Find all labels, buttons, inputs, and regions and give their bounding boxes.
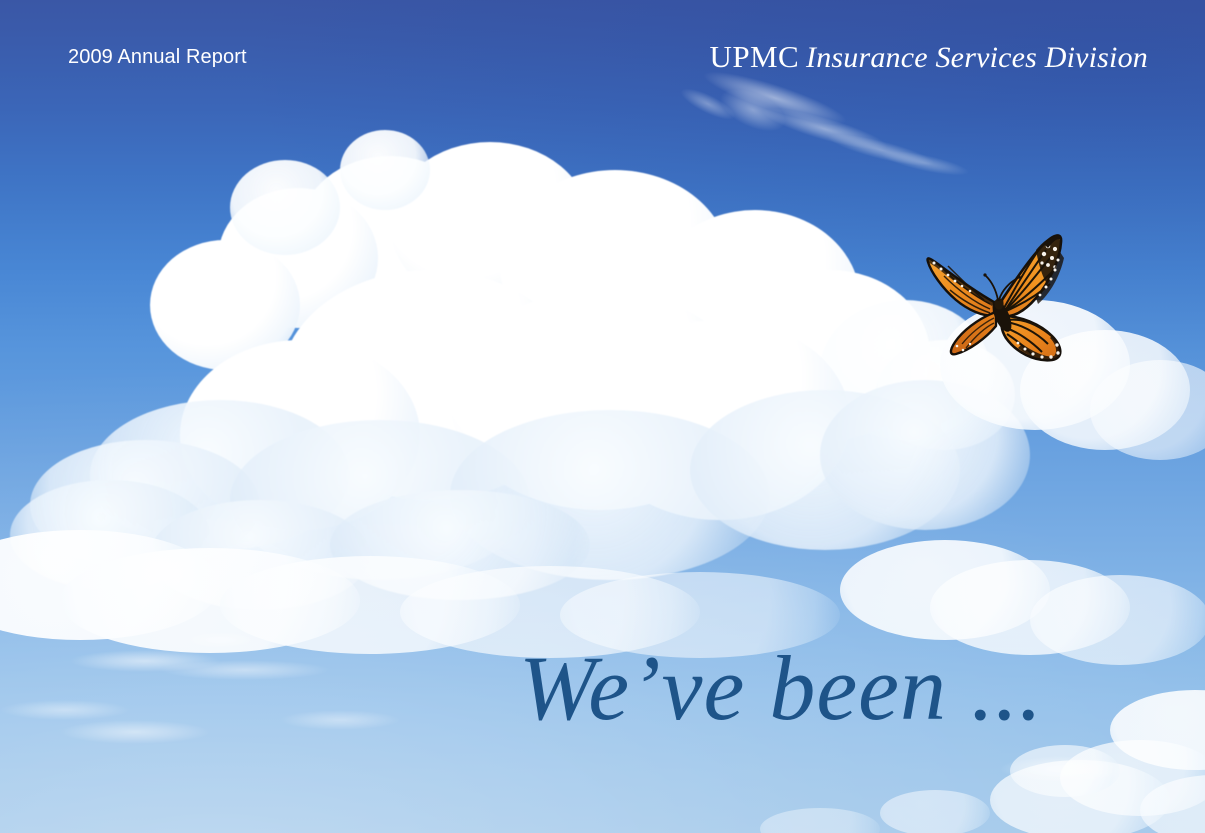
cumulus-cloud-main bbox=[30, 150, 1040, 620]
cloud-bank-lower-left bbox=[60, 548, 360, 653]
cloud-puff-small bbox=[760, 808, 880, 833]
cumulus-cloud-right bbox=[940, 300, 1130, 430]
cloud-wisp-low bbox=[0, 700, 130, 720]
cirrus-wisp bbox=[677, 83, 739, 125]
cloud-bottom-right bbox=[1010, 745, 1120, 797]
brand-name-division: Insurance Services Division bbox=[806, 41, 1148, 74]
cloud-wisp-low bbox=[60, 720, 210, 744]
cloud-bottom-right bbox=[1110, 690, 1205, 770]
butterfly-right-forewing bbox=[1002, 235, 1064, 316]
brand-mark-upmc: UPMC bbox=[710, 39, 799, 74]
butterfly-right-hindwing bbox=[1002, 316, 1061, 360]
cirrus-wisp bbox=[825, 128, 936, 172]
brand-lockup: UPMCInsurance Services Division bbox=[710, 41, 1148, 73]
butterfly-left-forewing bbox=[927, 258, 994, 316]
cloud-bank-lower-left bbox=[0, 530, 220, 640]
cirrus-wisp bbox=[759, 101, 890, 158]
cloud-puff-small bbox=[880, 790, 990, 833]
cumulus-cloud-small bbox=[840, 540, 1050, 640]
cloud-bottom-right bbox=[990, 760, 1170, 833]
page-title: 2009 Annual Report bbox=[68, 46, 247, 69]
cloud-bottom-right bbox=[1060, 740, 1205, 816]
cloud-wisp-low bbox=[160, 660, 330, 680]
cirrus-wisp bbox=[879, 146, 970, 180]
cloud-bank-lower-left bbox=[220, 556, 520, 654]
cloud-wisp-low bbox=[70, 650, 220, 672]
cloud-bottom-right bbox=[1140, 775, 1205, 833]
cumulus-cloud-right bbox=[1020, 330, 1190, 450]
report-cover: 2009 Annual Report UPMCInsurance Service… bbox=[0, 0, 1205, 833]
cloud-wisp-low bbox=[186, 632, 256, 648]
cloud-wisp-low bbox=[280, 710, 400, 730]
cloud-bottom-right bbox=[1000, 756, 1130, 782]
cumulus-cloud-small bbox=[1030, 575, 1205, 665]
cumulus-cloud-right bbox=[1090, 360, 1205, 460]
butterfly-left-hindwing bbox=[951, 312, 996, 354]
cover-tagline: We’ve been ... bbox=[519, 638, 1043, 739]
butterfly-body bbox=[983, 273, 1020, 334]
monarch-butterfly-illustration bbox=[924, 232, 1072, 374]
cirrus-wisp bbox=[714, 80, 792, 140]
